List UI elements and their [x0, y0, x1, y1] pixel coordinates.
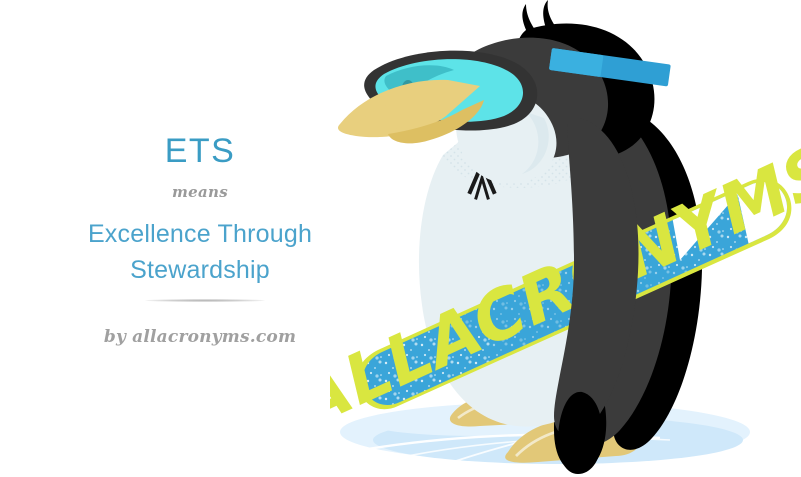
divider-rule	[145, 299, 265, 302]
penguin-snowboarder-illustration: ALLACRONYMS	[330, 0, 801, 477]
image-canvas: ETS means Excellence Through Stewardship…	[0, 0, 801, 477]
